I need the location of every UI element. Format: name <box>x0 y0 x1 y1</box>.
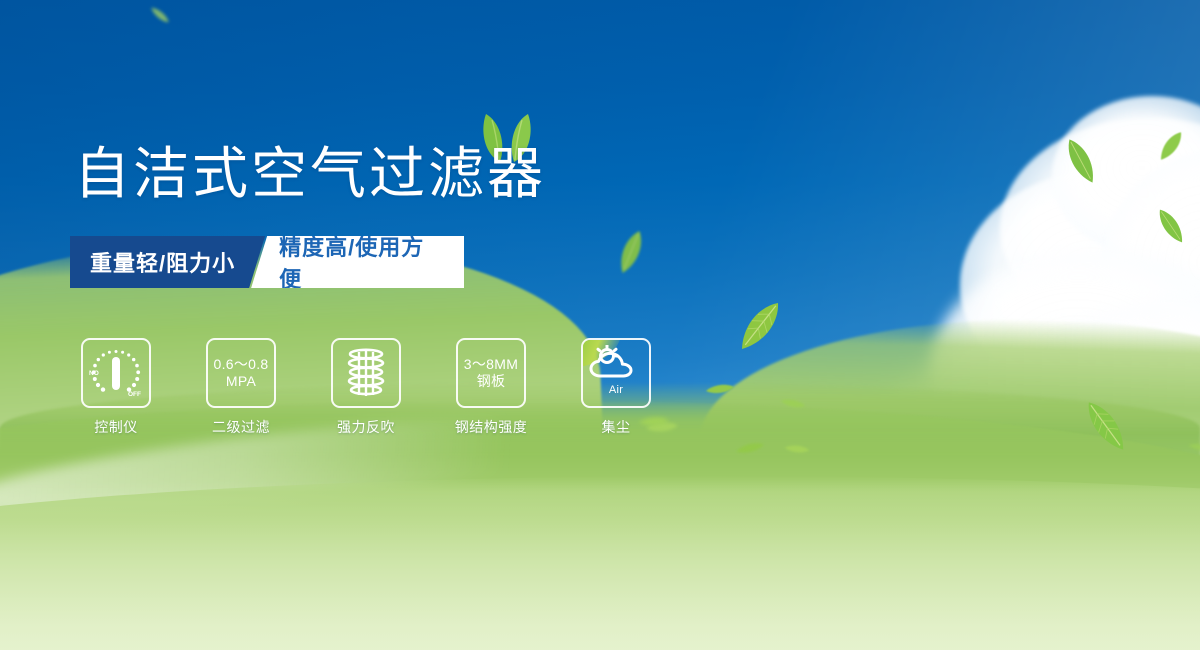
pressure-value-line1: 0.6〜0.8 <box>213 356 268 373</box>
svg-text:NO: NO <box>89 370 99 377</box>
feature-icon-box: 0.6〜0.8 MPA <box>206 338 276 408</box>
feature-list: NO OFF 控制仪 0.6〜0.8 MPA 二级过滤 <box>81 338 651 437</box>
feature-item-reverse-blow[interactable]: 强力反吹 <box>331 338 401 437</box>
badge-right-segment: 精度高/使用方便 <box>251 236 464 288</box>
feature-label: 强力反吹 <box>337 417 395 437</box>
feature-item-steel-strength[interactable]: 3〜8MM 钢板 钢结构强度 <box>456 338 526 437</box>
feature-item-secondary-filter[interactable]: 0.6〜0.8 MPA 二级过滤 <box>206 338 276 437</box>
svg-text:OFF: OFF <box>128 391 141 398</box>
air-label: Air <box>609 382 623 399</box>
feature-icon-box <box>331 338 401 408</box>
feature-label: 控制仪 <box>94 417 138 437</box>
pressure-value-line2: MPA <box>226 373 256 390</box>
cloud-air-icon <box>587 345 645 383</box>
filter-coil-icon <box>340 345 392 401</box>
feature-item-dust-collection[interactable]: Air 集尘 <box>581 338 651 437</box>
feature-label: 集尘 <box>602 417 631 437</box>
feature-label: 钢结构强度 <box>455 417 528 437</box>
feature-icon-box: 3〜8MM 钢板 <box>456 338 526 408</box>
product-banner: 自洁式空气过滤器 重量轻/阻力小 精度高/使用方便 <box>0 0 1200 650</box>
feature-icon-box: NO OFF <box>81 338 151 408</box>
feature-label: 二级过滤 <box>212 417 270 437</box>
steel-value-line2: 钢板 <box>477 373 506 390</box>
feature-icon-box: Air <box>581 338 651 408</box>
feature-item-control-dial[interactable]: NO OFF 控制仪 <box>81 338 151 437</box>
steel-value-line1: 3〜8MM <box>464 356 518 373</box>
badge-left-segment: 重量轻/阻力小 <box>70 236 265 288</box>
subtitle-badge: 重量轻/阻力小 精度高/使用方便 <box>70 236 464 288</box>
page-title: 自洁式空气过滤器 <box>74 146 546 202</box>
control-dial-icon: NO OFF <box>84 341 148 405</box>
